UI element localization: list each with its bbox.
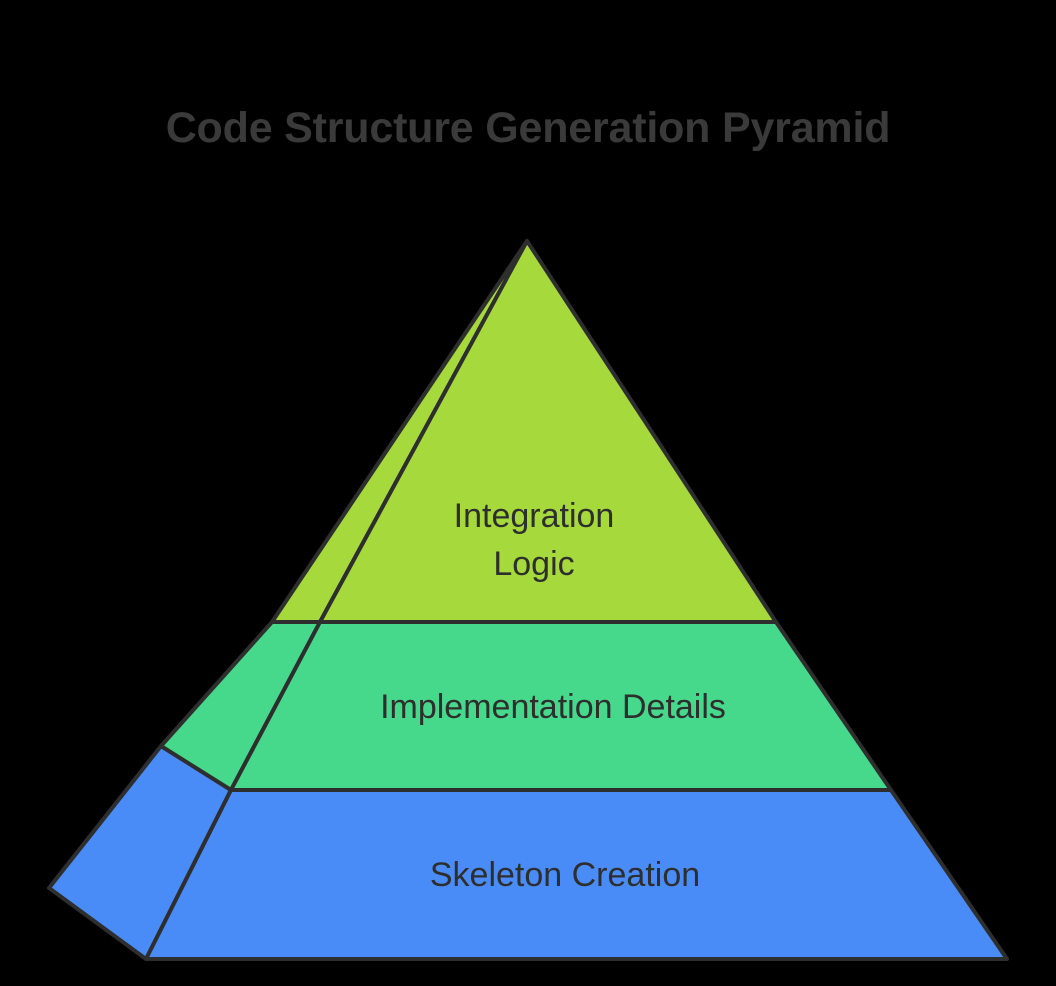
- pyramid-diagram-canvas: Code Structure Generation Pyramid Skelet…: [0, 0, 1056, 986]
- pyramid-level-implementation-details[interactable]: Implementation Details: [161, 622, 891, 790]
- pyramid-level-1-label-line-1: Integration: [454, 497, 615, 535]
- pyramid-level-3-label: Skeleton Creation: [430, 856, 700, 894]
- pyramid-level-1-label-line-2: Logic: [493, 545, 574, 583]
- pyramid-level-2-label: Implementation Details: [380, 688, 726, 726]
- pyramid-level-integration-logic[interactable]: Integration Logic: [272, 241, 776, 622]
- pyramid-chart: Skeleton Creation Implementation Details…: [0, 0, 1056, 986]
